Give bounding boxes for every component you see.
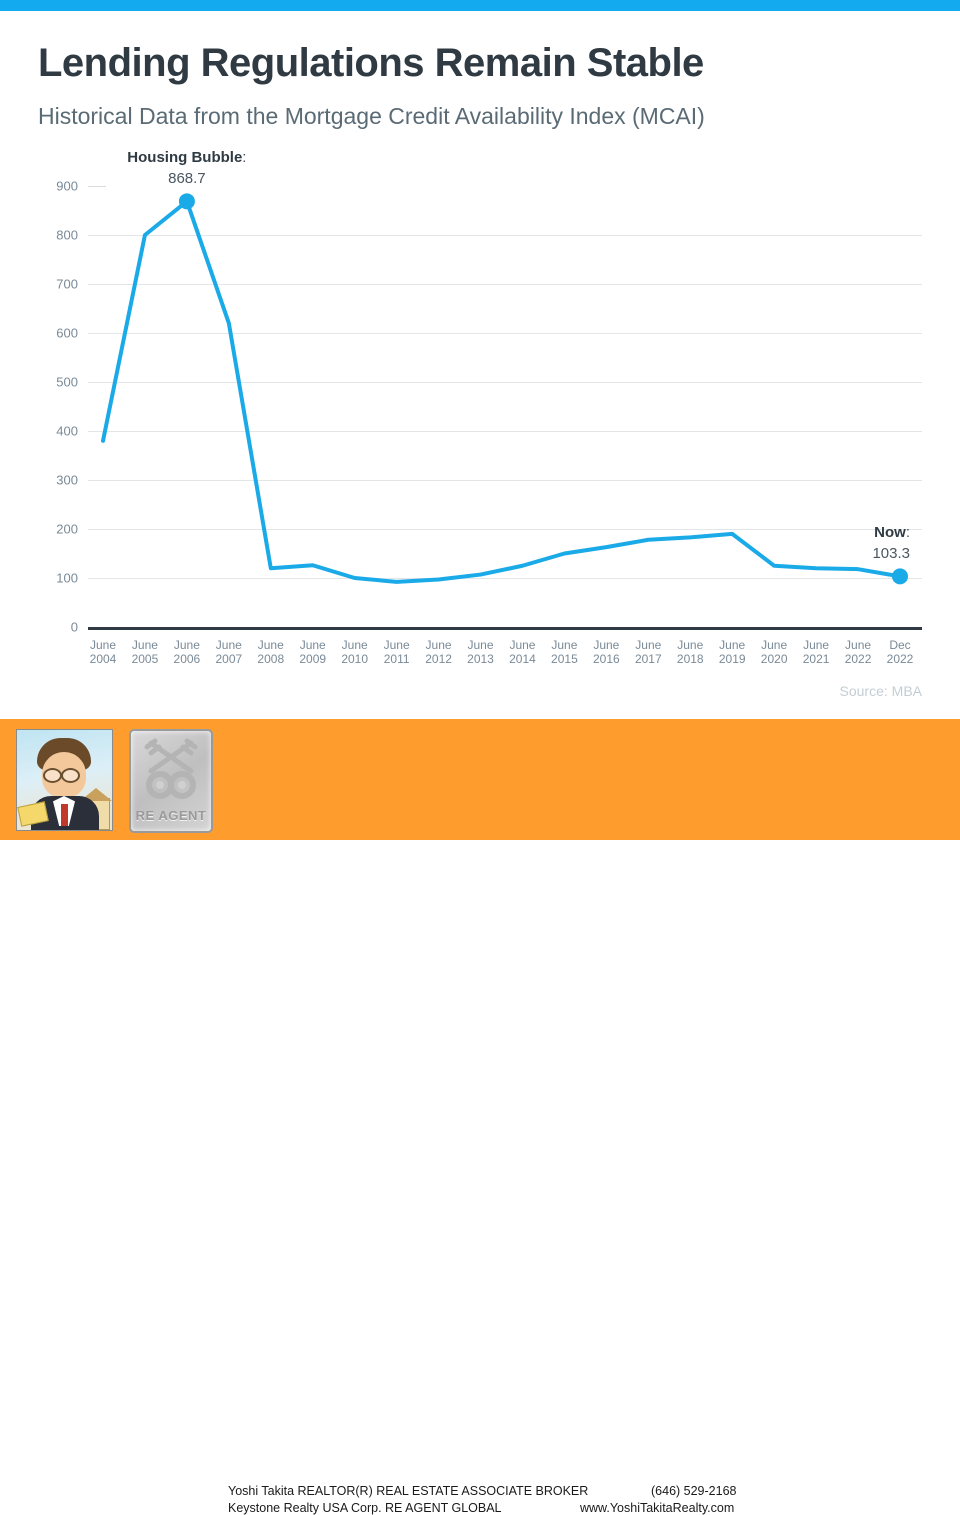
x-axis-label-june-2013: June2013 xyxy=(467,638,494,666)
annotation-now-label: Now xyxy=(874,524,906,541)
y-axis-label-100: 100 xyxy=(56,571,78,586)
x-axis-label-june-2005: June2005 xyxy=(132,638,159,666)
data-point-marker xyxy=(179,193,195,209)
annotation-housing-bubble-value: 868.7 xyxy=(87,168,287,189)
x-axis-label-june-2008: June2008 xyxy=(257,638,284,666)
footer-bar: RE AGENT Yoshi Takita REALTOR(R) REAL ES… xyxy=(0,719,960,840)
x-axis-label-june-2017: June2017 xyxy=(635,638,662,666)
agent-caricature-logo xyxy=(16,729,113,831)
top-accent-bar xyxy=(0,0,960,11)
source-note: Source: MBA xyxy=(840,683,922,699)
annotation-colon: : xyxy=(906,524,910,541)
footer-brokerage: Keystone Realty USA Corp. RE AGENT GLOBA… xyxy=(228,1501,502,1515)
page-subtitle: Historical Data from the Mortgage Credit… xyxy=(38,103,705,130)
y-axis-label-500: 500 xyxy=(56,375,78,390)
x-axis-label-june-2009: June2009 xyxy=(299,638,326,666)
annotation-colon: : xyxy=(242,149,246,166)
y-axis-label-900: 900 xyxy=(56,179,78,194)
footer-agent-name: Yoshi Takita REALTOR(R) REAL ESTATE ASSO… xyxy=(228,1484,588,1498)
annotation-housing-bubble-label: Housing Bubble xyxy=(127,149,242,166)
tie-shape xyxy=(61,804,68,826)
y-axis-label-200: 200 xyxy=(56,522,78,537)
y-axis-label-0: 0 xyxy=(71,620,78,635)
footer-website[interactable]: www.YoshiTakitaRealty.com xyxy=(580,1501,734,1515)
page-title: Lending Regulations Remain Stable xyxy=(38,41,704,86)
mcai-line-chart: 0100200300400500600700800900 June2004Jun… xyxy=(0,150,960,710)
y-axis-label-700: 700 xyxy=(56,277,78,292)
y-axis-label-800: 800 xyxy=(56,228,78,243)
footer-phone[interactable]: (646) 529-2168 xyxy=(651,1484,736,1498)
data-point-marker xyxy=(892,568,908,584)
x-axis-label-dec-2022: Dec2022 xyxy=(887,638,914,666)
y-axis-label-400: 400 xyxy=(56,424,78,439)
x-axis-label-june-2021: June2021 xyxy=(803,638,830,666)
y-axis-label-600: 600 xyxy=(56,326,78,341)
annotation-housing-bubble: Housing Bubble: 868.7 xyxy=(87,147,287,189)
glasses-right-icon xyxy=(61,768,80,783)
x-axis-label-june-2016: June2016 xyxy=(593,638,620,666)
x-axis-label-june-2015: June2015 xyxy=(551,638,578,666)
y-axis-label-300: 300 xyxy=(56,473,78,488)
chart-baseline-axis xyxy=(88,627,922,630)
x-axis-label-june-2007: June2007 xyxy=(215,638,242,666)
annotation-now: Now: 103.3 xyxy=(720,522,910,564)
x-axis-label-june-2011: June2011 xyxy=(384,638,410,666)
x-axis-label-june-2018: June2018 xyxy=(677,638,704,666)
crossed-keys-icon xyxy=(137,737,205,807)
re-agent-badge-text: RE AGENT xyxy=(131,808,211,823)
annotation-now-value: 103.3 xyxy=(720,543,910,564)
x-axis-label-june-2012: June2012 xyxy=(425,638,452,666)
glasses-left-icon xyxy=(43,768,62,783)
x-axis-label-june-2019: June2019 xyxy=(719,638,746,666)
x-axis-label-june-2022: June2022 xyxy=(845,638,872,666)
x-axis-label-june-2006: June2006 xyxy=(174,638,201,666)
x-axis-label-june-2010: June2010 xyxy=(341,638,368,666)
re-agent-badge-logo: RE AGENT xyxy=(129,729,213,833)
x-axis-label-june-2004: June2004 xyxy=(90,638,117,666)
x-axis-label-june-2020: June2020 xyxy=(761,638,788,666)
x-axis-label-june-2014: June2014 xyxy=(509,638,536,666)
